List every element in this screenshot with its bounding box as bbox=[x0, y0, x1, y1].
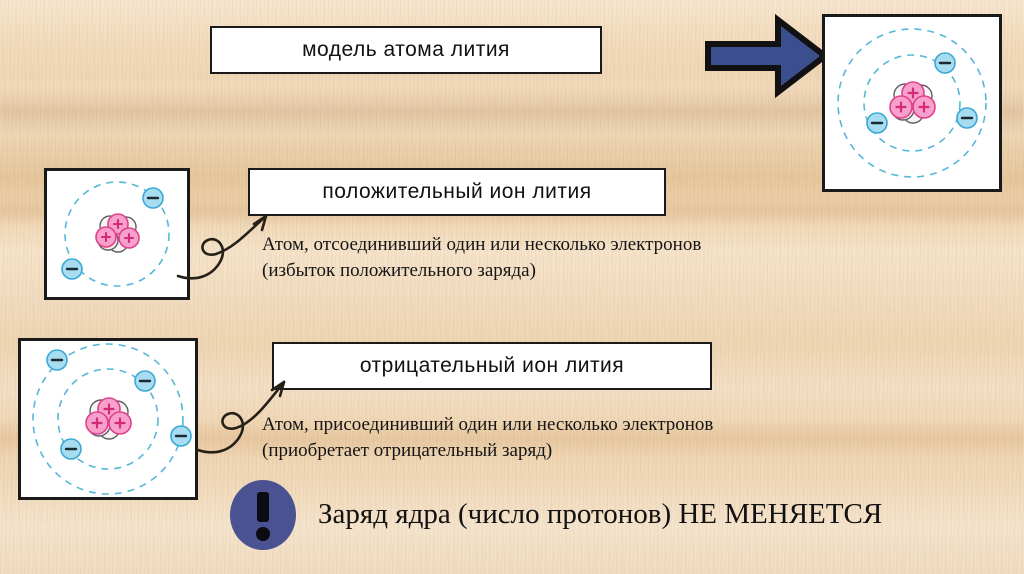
positive-lithium-ion-diagram bbox=[47, 171, 187, 297]
nucleus bbox=[86, 398, 131, 439]
electron bbox=[935, 53, 955, 73]
right-arrow-icon bbox=[706, 14, 828, 98]
electron bbox=[143, 188, 163, 208]
neutral-lithium-atom-diagram bbox=[825, 17, 999, 189]
negative-ion-label: отрицательный ион лития bbox=[360, 354, 624, 378]
electron bbox=[62, 259, 82, 279]
electron bbox=[61, 439, 81, 459]
electron bbox=[867, 113, 887, 133]
exclamation-stem bbox=[257, 492, 269, 522]
electron bbox=[47, 350, 67, 370]
negative-description: Атом, присоединивший один или несколько … bbox=[262, 412, 713, 464]
positive-description: Атом, отсоединивший один или несколько э… bbox=[262, 232, 701, 284]
negative-description-line2: (приобретает отрицательный заряд) bbox=[262, 438, 713, 464]
electron bbox=[171, 426, 191, 446]
negative-description-line1: Атом, присоединивший один или несколько … bbox=[262, 412, 713, 438]
exclamation-icon bbox=[230, 480, 296, 550]
negative-ion-box: отрицательный ион лития bbox=[272, 342, 712, 390]
electron bbox=[957, 108, 977, 128]
electron bbox=[135, 371, 155, 391]
bottom-note: Заряд ядра (число протонов) НЕ МЕНЯЕТСЯ bbox=[318, 498, 882, 531]
positive-lithium-ion-box bbox=[44, 168, 190, 300]
nucleus bbox=[890, 82, 935, 123]
neutral-lithium-atom-box bbox=[822, 14, 1002, 192]
positive-ion-box: положительный ион лития bbox=[248, 168, 666, 216]
negative-lithium-ion-diagram bbox=[21, 341, 195, 497]
nucleus bbox=[96, 214, 139, 252]
slide-canvas: модель атома лития bbox=[0, 0, 1024, 574]
title-box: модель атома лития bbox=[210, 26, 602, 74]
exclamation-dot bbox=[256, 527, 270, 541]
positive-ion-label: положительный ион лития bbox=[322, 180, 591, 204]
negative-lithium-ion-box bbox=[18, 338, 198, 500]
title-box-label: модель атома лития bbox=[302, 38, 510, 62]
positive-description-line2: (избыток положительного заряда) bbox=[262, 258, 701, 284]
positive-description-line1: Атом, отсоединивший один или несколько э… bbox=[262, 232, 701, 258]
